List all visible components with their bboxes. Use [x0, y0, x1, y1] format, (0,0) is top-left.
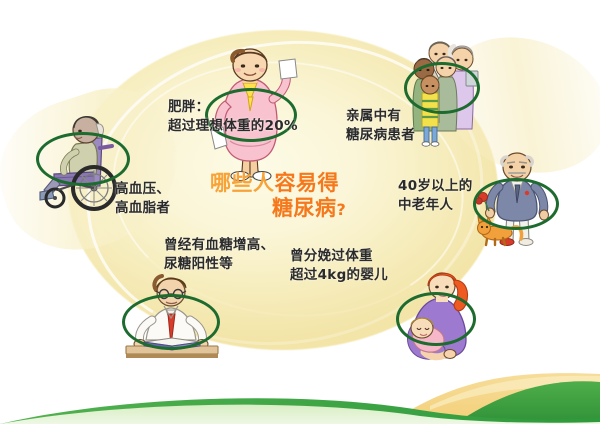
caption-middle-aged-elderly-line1: 40岁以上的 — [398, 177, 473, 196]
node-hypertension — [36, 132, 130, 186]
poster-title-line1-light: 哪些人 — [210, 171, 275, 195]
ring-middle-aged-elderly — [473, 178, 559, 230]
caption-family-history-line1: 亲属中有 — [346, 107, 415, 126]
caption-obesity: 肥胖： 超过理想体重的20% — [168, 98, 298, 136]
node-macrosomia — [396, 292, 476, 346]
caption-high-blood-sugar: 曾经有血糖增高、 尿糖阳性等 — [164, 236, 274, 274]
caption-middle-aged-elderly-line2: 中老年人 — [398, 196, 473, 215]
caption-hypertension-line2: 高血脂者 — [115, 199, 170, 218]
caption-macrosomia-line2: 超过4kg的婴儿 — [290, 266, 388, 285]
caption-hypertension-line1: 高血压、 — [115, 180, 170, 199]
caption-family-history-line2: 糖尿病患者 — [346, 126, 415, 145]
poster-title-line1-bold: 容易得 — [275, 171, 340, 195]
caption-macrosomia: 曾分娩过体重 超过4kg的婴儿 — [290, 247, 388, 285]
poster-title-question-mark: ? — [337, 200, 347, 219]
caption-macrosomia-line1: 曾分娩过体重 — [290, 247, 388, 266]
infographic-poster: 肥胖： 超过理想体重的20% 亲属中有 糖尿病患者 高血压、 高血脂者 40岁以… — [0, 0, 600, 424]
ring-hypertension — [36, 132, 130, 186]
poster-title-line2: 糖尿病? — [210, 197, 390, 219]
caption-obesity-line2: 超过理想体重的20% — [168, 117, 298, 136]
caption-hypertension: 高血压、 高血脂者 — [115, 180, 170, 218]
node-middle-aged-elderly — [473, 178, 559, 230]
caption-obesity-line1: 肥胖： — [168, 98, 298, 117]
ring-family-history — [404, 62, 480, 114]
caption-middle-aged-elderly: 40岁以上的 中老年人 — [398, 177, 473, 215]
ring-high-blood-sugar — [122, 294, 220, 350]
caption-high-blood-sugar-line2: 尿糖阳性等 — [164, 255, 274, 274]
caption-family-history: 亲属中有 糖尿病患者 — [346, 107, 415, 145]
poster-title: 哪些人容易得 糖尿病? — [210, 172, 390, 219]
poster-title-line1: 哪些人容易得 — [210, 172, 390, 194]
node-family-history — [404, 62, 480, 114]
caption-high-blood-sugar-line1: 曾经有血糖增高、 — [164, 236, 274, 255]
node-high-blood-sugar — [122, 294, 220, 350]
poster-title-line2-bold: 糖尿病 — [272, 196, 337, 220]
ring-macrosomia — [396, 292, 476, 346]
bottom-hills-decoration — [0, 344, 600, 424]
